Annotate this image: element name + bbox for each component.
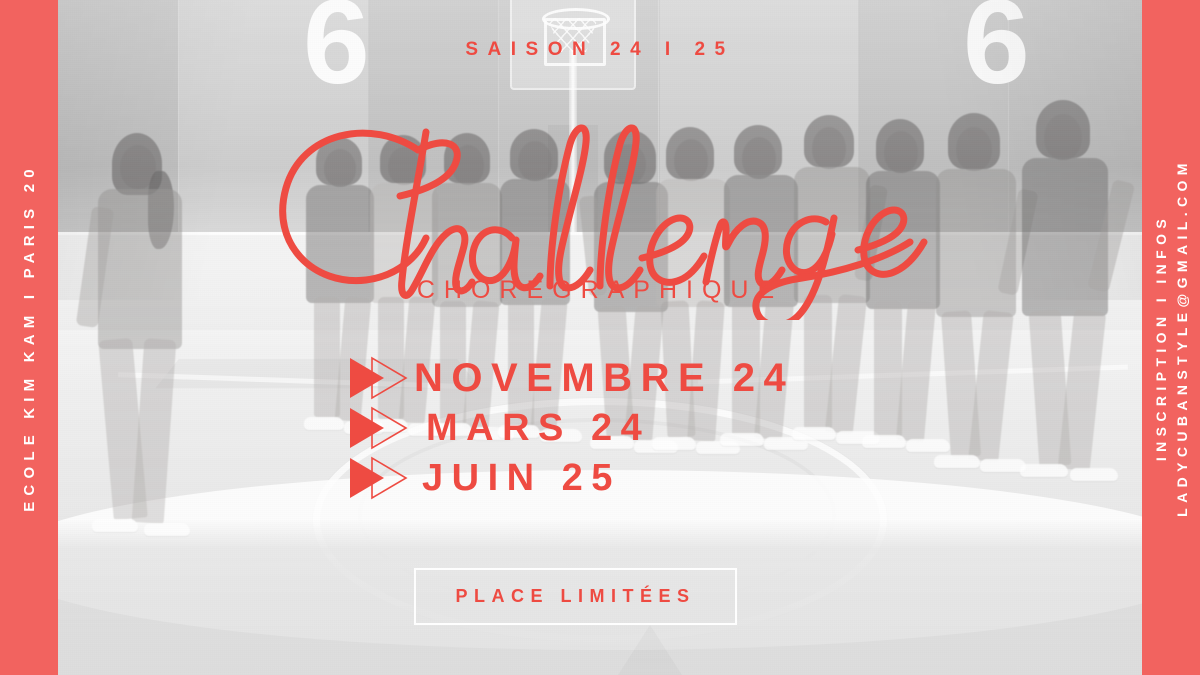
floor-triangle-marking	[618, 625, 682, 675]
season-label: SAISON 24 I 25	[58, 39, 1142, 61]
date-list: NOVEMBRE 24 MARS 24 JU	[348, 355, 794, 501]
poster-canvas: 6 6	[0, 0, 1200, 675]
double-play-triangle-icon	[348, 356, 414, 400]
left-sidebar-label: ECOLE KIM KAM I PARIS 20	[21, 163, 38, 512]
date-row-3: JUIN 25	[348, 455, 794, 501]
right-sidebar-labels: INSCRIPTION I INFOS LADYCUBANSTYLE@GMAIL…	[1153, 158, 1190, 517]
right-sidebar: INSCRIPTION I INFOS LADYCUBANSTYLE@GMAIL…	[1142, 0, 1200, 675]
limited-places-label: PLACE LIMITÉES	[455, 586, 695, 607]
right-sidebar-line-1: INSCRIPTION I INFOS	[1153, 214, 1169, 461]
right-sidebar-line-2: LADYCUBANSTYLE@GMAIL.COM	[1174, 158, 1190, 517]
double-play-triangle-icon	[348, 456, 414, 500]
double-play-triangle-icon	[348, 406, 414, 450]
date-label-3: JUIN 25	[422, 459, 621, 497]
left-sidebar: ECOLE KIM KAM I PARIS 20	[0, 0, 58, 675]
date-label-1: NOVEMBRE 24	[414, 358, 794, 398]
limited-places-box: PLACE LIMITÉES	[414, 568, 737, 625]
date-row-1: NOVEMBRE 24	[348, 355, 794, 401]
subtitle: CHORÉGRAPHIQUE	[58, 276, 1142, 305]
date-row-2: MARS 24	[348, 405, 794, 451]
date-label-2: MARS 24	[426, 409, 650, 447]
